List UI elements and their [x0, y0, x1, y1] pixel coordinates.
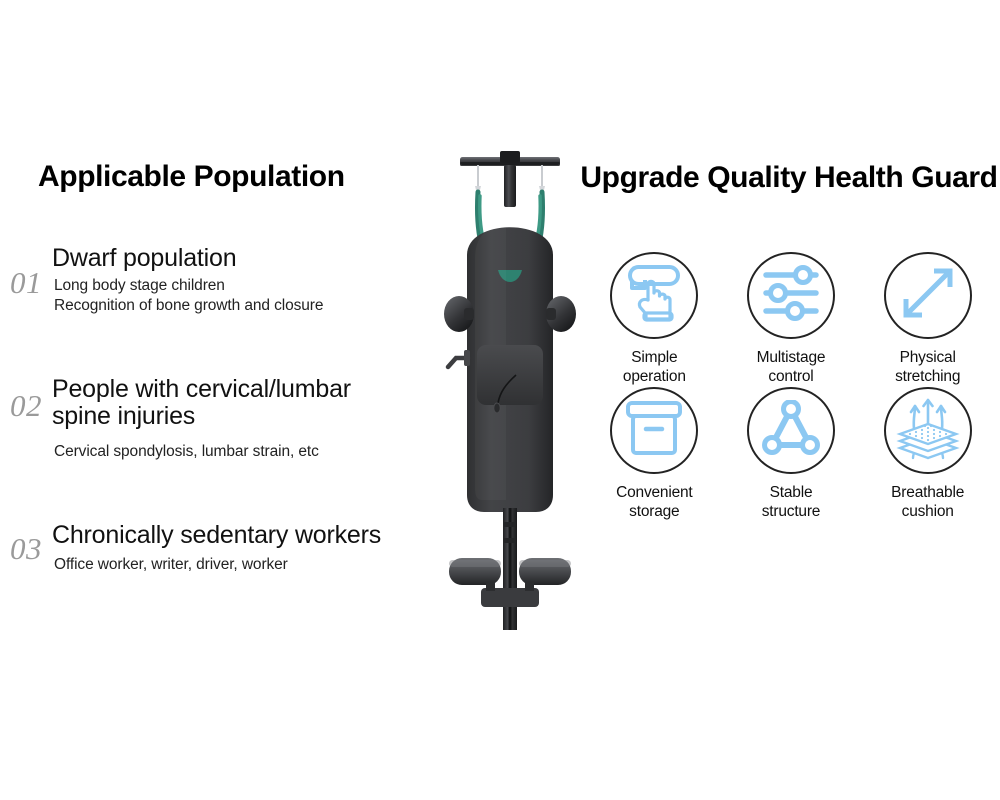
feature-convenient-storage: Convenient storage	[586, 387, 723, 522]
population-item-1-number: 01	[10, 267, 42, 298]
feature-label-4: Convenient storage	[616, 484, 692, 522]
population-item-2-subtext: Cervical spondylosis, lumbar strain, etc	[54, 442, 319, 462]
feature-label-5: Stable structure	[762, 484, 821, 522]
population-item-3-number: 03	[10, 533, 42, 564]
storage-box-icon	[625, 400, 683, 461]
feature-breathable-cushion: Breathable cushion	[859, 387, 996, 522]
population-item-2-heading: People with cervical/lumbar spine injuri…	[52, 376, 351, 430]
feature-multistage-control: Multistage control	[723, 252, 860, 387]
population-item-1-heading: Dwarf population	[52, 245, 236, 272]
feature-stable-structure: Stable structure	[723, 387, 860, 522]
feature-circle-3	[884, 252, 972, 339]
feature-physical-stretching: Physical stretching	[859, 252, 996, 387]
product-seat-pad	[477, 345, 543, 405]
feature-label-3: Physical stretching	[895, 349, 960, 387]
feature-label-2: Multistage control	[757, 349, 826, 387]
population-item-3-heading: Chronically sedentary workers	[52, 522, 381, 549]
product-image-inversion-table	[420, 140, 600, 630]
page-title-right: Upgrade Quality Health Guard	[578, 160, 1000, 197]
population-item-2-number: 02	[10, 390, 42, 421]
breathable-mesh-layers-icon	[896, 396, 960, 465]
feature-circle-4	[610, 387, 698, 474]
infographic-canvas: Applicable Population 01 Dwarf populatio…	[0, 0, 1000, 800]
feature-circle-1	[610, 252, 698, 339]
feature-grid: Simple operation	[586, 252, 996, 522]
sliders-control-icon	[762, 264, 820, 327]
feature-simple-operation: Simple operation	[586, 252, 723, 387]
diagonal-expand-arrows-icon	[898, 263, 958, 328]
hand-press-button-icon	[625, 262, 683, 329]
product-top-crossbar	[460, 151, 560, 166]
page-title-left: Applicable Population	[38, 160, 345, 194]
feature-circle-5	[747, 387, 835, 474]
triangle-nodes-icon	[762, 400, 820, 461]
feature-label-6: Breathable cushion	[891, 484, 964, 522]
feature-label-1: Simple operation	[623, 349, 686, 387]
feature-circle-6	[884, 387, 972, 474]
upgrade-quality-section: Upgrade Quality Health Guard S	[578, 160, 1000, 640]
applicable-population-section: Applicable Population 01 Dwarf populatio…	[0, 160, 470, 630]
feature-circle-2	[747, 252, 835, 339]
population-item-3-subtext: Office worker, writer, driver, worker	[54, 555, 288, 575]
population-item-1-subtext: Long body stage children Recognition of …	[54, 276, 323, 315]
